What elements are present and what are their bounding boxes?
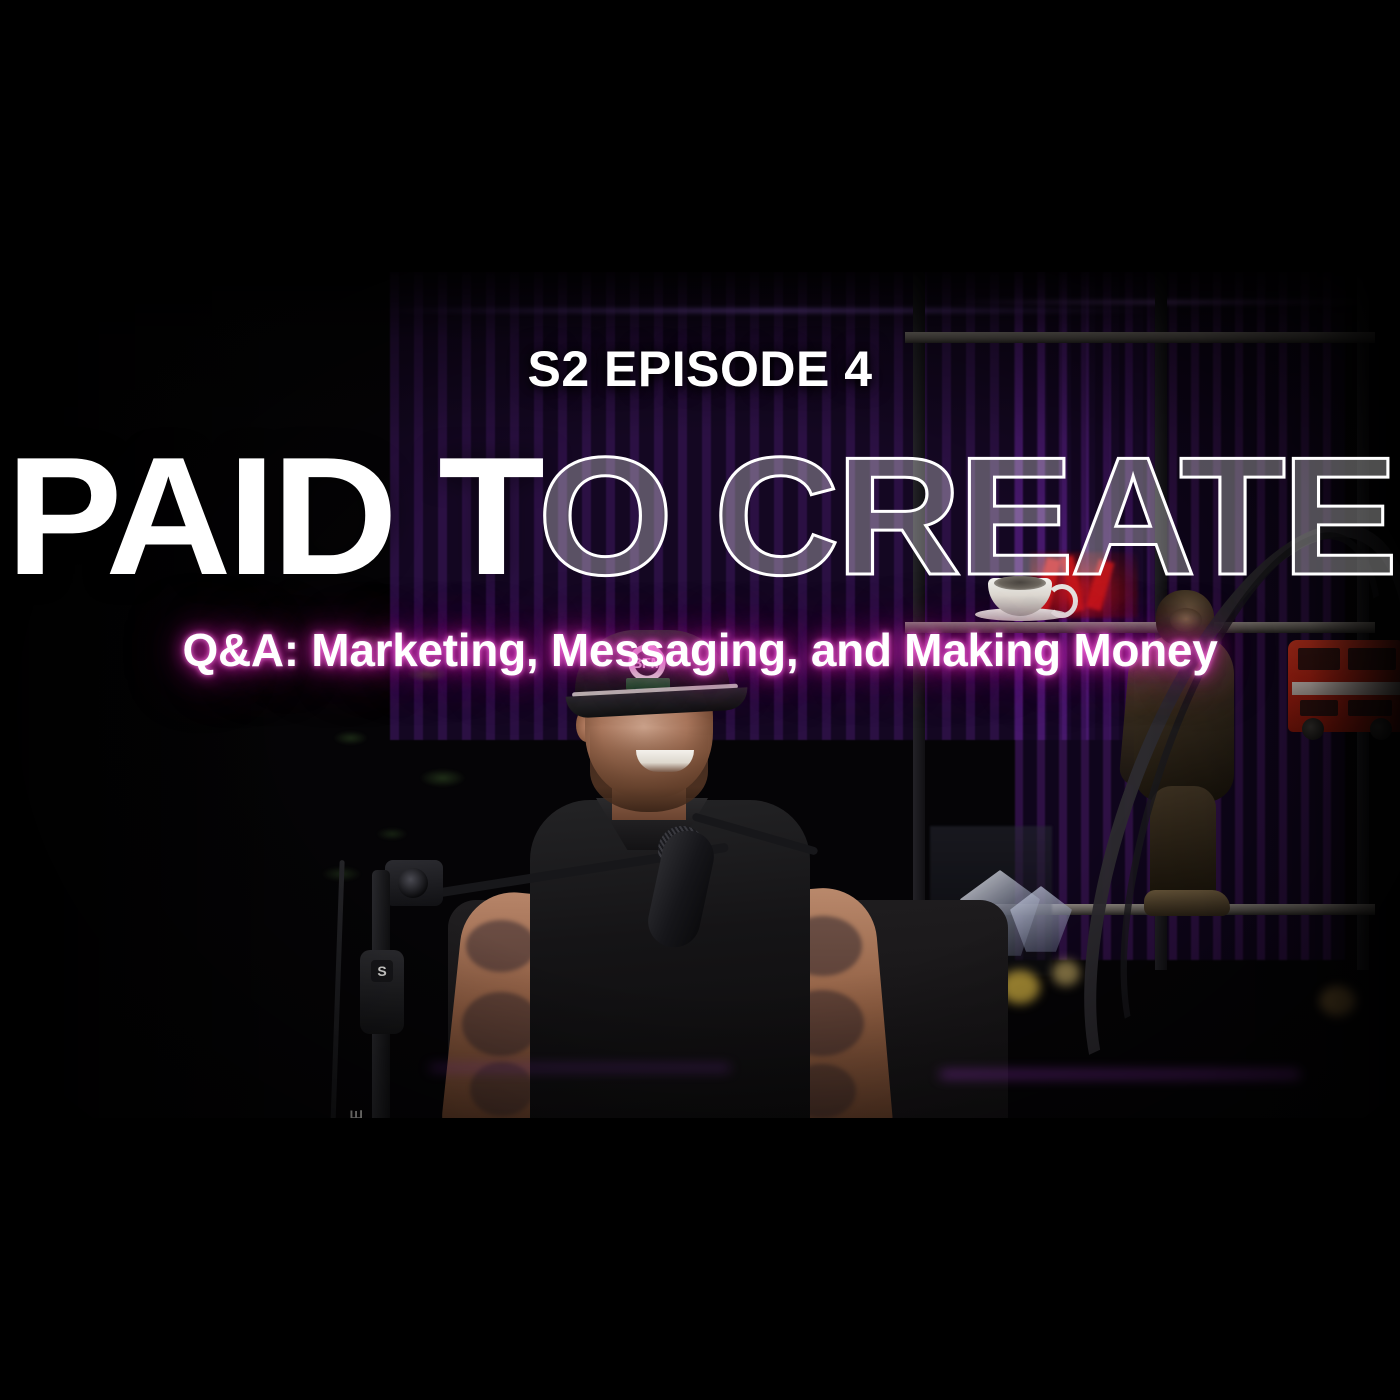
title-overlay: S2 EPISODE 4 PAID TO CREATE Q&A: Marketi… xyxy=(0,0,1400,1400)
show-title-ghost: O CREATE xyxy=(538,422,1395,610)
episode-cover-art: BFM S SHURE RODE xyxy=(0,0,1400,1400)
show-title-solid: PAID T xyxy=(6,422,538,610)
show-title: PAID TO CREATE xyxy=(0,432,1400,600)
episode-label: S2 EPISODE 4 xyxy=(0,344,1400,394)
episode-subtitle: Q&A: Marketing, Messaging, and Making Mo… xyxy=(0,627,1400,673)
